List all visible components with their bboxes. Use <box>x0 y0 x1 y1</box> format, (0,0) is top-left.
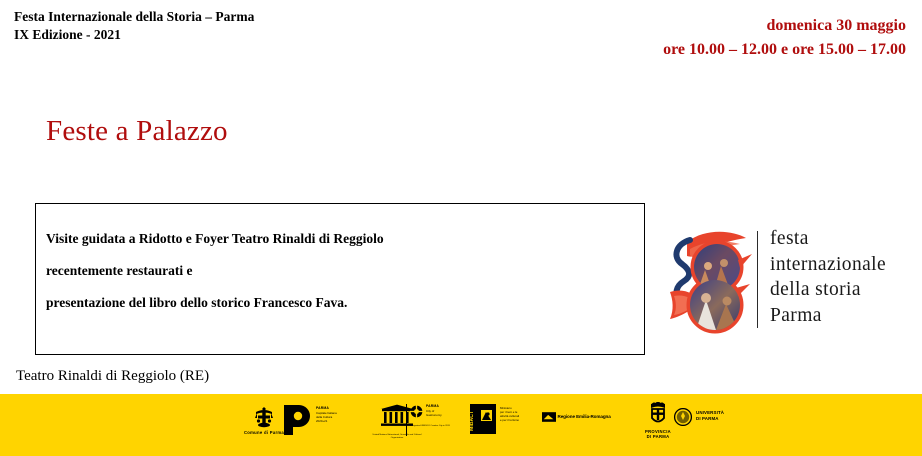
capitale-line-4: 2020+21 <box>316 419 337 423</box>
capitale-p-mark-icon <box>284 405 310 440</box>
ministero-wordmark: Ministero per i beni e le attività cultu… <box>500 406 519 422</box>
unesco-caption: United Nations Educational, Scientific a… <box>370 434 424 440</box>
regione-label: Regione Emilia-Romagna <box>558 415 611 420</box>
festa-word-line-1: festa <box>770 226 886 252</box>
sponsor-logo-regione-emilia-romagna: Regione Emilia-Romagna <box>542 412 634 422</box>
svg-text:MiBACT: MiBACT <box>470 410 475 431</box>
festa-logo-wordmark: festa internazionale della storia Parma <box>770 226 886 328</box>
festa-emblem-icon <box>660 222 752 336</box>
gastronomy-divider <box>406 404 407 436</box>
comune-crest-icon <box>253 406 275 428</box>
gastronomy-caption: Designated UNESCO Creative City in 2015 <box>410 424 450 428</box>
universita-line-2: DI PARMA <box>696 416 724 422</box>
festa-word-line-4: Parma <box>770 303 886 329</box>
series-edition: IX Edizione - 2021 <box>14 26 254 44</box>
description-text: Visite guidata a Ridotto e Foyer Teatro … <box>36 204 644 319</box>
event-series-header: Festa Internazionale della Storia – Parm… <box>14 8 254 44</box>
event-datetime-header: domenica 30 maggio ore 10.00 – 12.00 e o… <box>663 14 906 62</box>
universita-seal-icon <box>674 408 692 426</box>
capitale-line-2: Capitale Italiana <box>316 411 337 415</box>
regione-flag-icon <box>542 412 556 422</box>
provincia-crest-icon <box>648 402 668 426</box>
event-times: ore 10.00 – 12.00 e ore 15.00 – 17.00 <box>663 38 906 62</box>
festa-word-line-2: internazionale <box>770 252 886 278</box>
description-line-2: recentemente restaurati e <box>46 255 644 287</box>
festa-logo-divider <box>757 231 758 328</box>
sponsor-footer-bar: Comune di Parma PARMA Capitale Italiana … <box>0 394 922 456</box>
description-box: Visite guidata a Ridotto e Foyer Teatro … <box>35 203 645 355</box>
universita-wordmark: UNIVERSITÀ DI PARMA <box>696 410 724 421</box>
festa-word-line-3: della storia <box>770 277 886 303</box>
ministero-line-4: e per il turismo <box>500 418 519 422</box>
gastronomy-line-3: Gastronomy <box>426 413 442 417</box>
series-title: Festa Internazionale della Storia – Parm… <box>14 8 254 26</box>
description-line-1: Visite guidata a Ridotto e Foyer Teatro … <box>46 223 644 255</box>
festa-internazionale-logo: festa internazionale della storia Parma <box>660 222 910 340</box>
ministero-mark-icon: MiBACT <box>470 404 496 434</box>
event-date: domenica 30 maggio <box>663 14 906 38</box>
description-line-3: presentazione del libro dello storico Fr… <box>46 287 644 319</box>
venue-caption: Teatro Rinaldi di Reggiolo (RE) <box>16 366 209 386</box>
poster-page: Festa Internazionale della Storia – Parm… <box>0 0 922 456</box>
page-title: Feste a Palazzo <box>46 114 228 148</box>
sponsor-logo-strip: Comune di Parma PARMA Capitale Italiana … <box>222 394 742 456</box>
universita-line-1: UNIVERSITÀ <box>696 410 724 416</box>
gastronomy-wordmark: PARMA City of Gastronomy <box>426 404 442 417</box>
capitale-wordmark: PARMA Capitale Italiana della Cultura 20… <box>316 406 337 423</box>
provincia-line-2: DI PARMA <box>630 434 686 439</box>
